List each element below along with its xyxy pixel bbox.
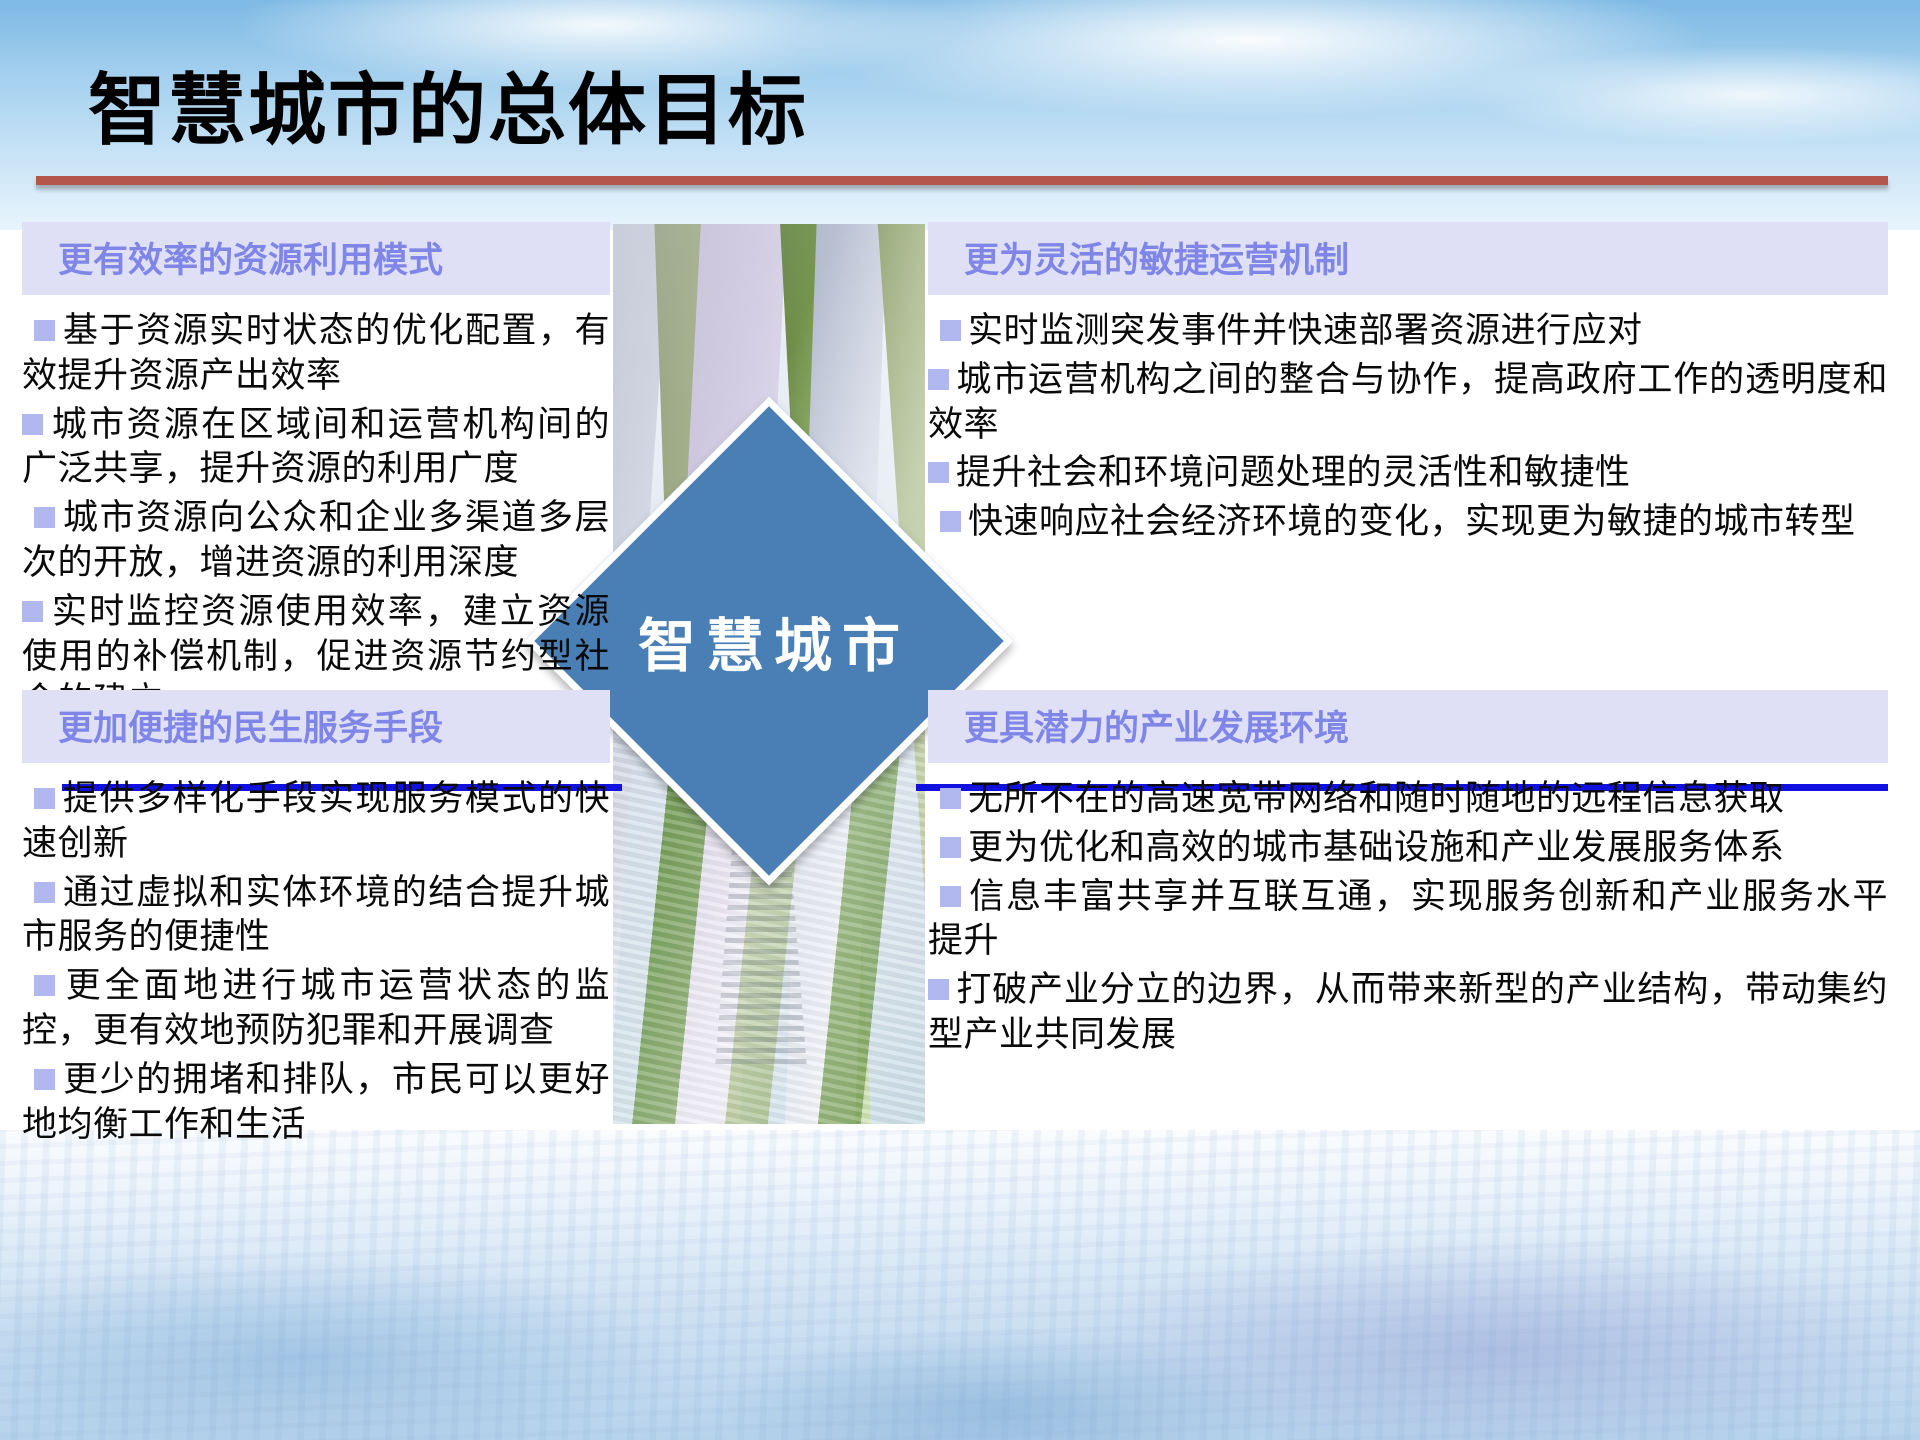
list-item: 打破产业分立的边界，从而带来新型的产业结构，带动集约型产业共同发展 — [928, 968, 1888, 1058]
list-item-text: 实时监测突发事件并快速部署资源进行应对 — [968, 311, 1643, 350]
bullet-square-icon — [928, 369, 949, 390]
bullet-square-icon — [22, 601, 43, 622]
page-title: 智慧城市的总体目标 — [88, 48, 808, 160]
slide-canvas: 智慧城市的总体目标 智慧城市 更有效率的资源利用模式 基于资源实时状态的优化配置… — [0, 0, 1920, 1440]
bullet-square-icon — [34, 320, 55, 341]
center-diamond-badge: 智慧城市 — [596, 468, 942, 814]
list-item-text: 快速响应社会经济环境的变化，实现更为敏捷的城市转型 — [968, 502, 1856, 541]
bullet-square-icon — [34, 788, 55, 809]
list-item: 提升社会和环境问题处理的灵活性和敏捷性 — [928, 451, 1888, 496]
list-item: 城市资源向公众和企业多渠道多层次的开放，增进资源的利用深度 — [22, 496, 610, 586]
list-item-text: 基于资源实时状态的优化配置，有效提升资源产出效率 — [22, 311, 610, 395]
bullet-square-icon — [940, 511, 961, 532]
list-item-text: 更全面地进行城市运营状态的监控，更有效地预防犯罪和开展调查 — [22, 966, 610, 1050]
bullet-list-bottom-right: 无所不在的高速宽带网络和随时随地的远程信息获取 更为优化和高效的城市基础设施和产… — [928, 777, 1888, 1058]
quadrant-header-bottom-left: 更加便捷的民生服务手段 — [22, 690, 610, 763]
list-item: 更少的拥堵和排队，市民可以更好地均衡工作和生活 — [22, 1058, 610, 1148]
list-item: 实时监测突发事件并快速部署资源进行应对 — [928, 309, 1888, 354]
bullet-square-icon — [34, 507, 55, 528]
list-item: 更为优化和高效的城市基础设施和产业发展服务体系 — [928, 826, 1888, 871]
quadrant-bottom-right: 更具潜力的产业发展环境 无所不在的高速宽带网络和随时随地的远程信息获取 更为优化… — [928, 690, 1888, 1062]
list-item-text: 无所不在的高速宽带网络和随时随地的远程信息获取 — [968, 779, 1785, 818]
quadrant-header-top-left: 更有效率的资源利用模式 — [22, 222, 610, 295]
bullet-square-icon — [928, 979, 949, 1000]
list-item: 城市运营机构之间的整合与协作，提高政府工作的透明度和效率 — [928, 358, 1888, 448]
bullet-square-icon — [940, 837, 961, 858]
bullet-square-icon — [940, 788, 961, 809]
list-item-text: 城市资源向公众和企业多渠道多层次的开放，增进资源的利用深度 — [22, 498, 610, 582]
list-item: 更全面地进行城市运营状态的监控，更有效地预防犯罪和开展调查 — [22, 964, 610, 1054]
bullet-list-bottom-left: 提供多样化手段实现服务模式的快速创新 通过虚拟和实体环境的结合提升城市服务的便捷… — [22, 777, 610, 1147]
bullet-square-icon — [34, 882, 55, 903]
list-item-text: 更为优化和高效的城市基础设施和产业发展服务体系 — [968, 828, 1785, 867]
bullet-square-icon — [34, 975, 55, 996]
title-divider — [36, 176, 1888, 185]
bullet-square-icon — [34, 1069, 55, 1090]
quadrant-bottom-left: 更加便捷的民生服务手段 提供多样化手段实现服务模式的快速创新 通过虚拟和实体环境… — [22, 690, 610, 1151]
list-item: 通过虚拟和实体环境的结合提升城市服务的便捷性 — [22, 871, 610, 961]
bullet-square-icon — [940, 886, 961, 907]
bullet-list-top-right: 实时监测突发事件并快速部署资源进行应对 城市运营机构之间的整合与协作，提高政府工… — [928, 309, 1888, 545]
list-item-text: 信息丰富共享并互联互通，实现服务创新和产业服务水平提升 — [928, 877, 1888, 961]
list-item: 信息丰富共享并互联互通，实现服务创新和产业服务水平提升 — [928, 875, 1888, 965]
list-item-text: 城市资源在区域间和运营机构间的广泛共享，提升资源的利用广度 — [22, 405, 610, 489]
list-item-text: 提升社会和环境问题处理的灵活性和敏捷性 — [956, 453, 1631, 492]
list-item: 快速响应社会经济环境的变化，实现更为敏捷的城市转型 — [928, 500, 1888, 545]
list-item: 提供多样化手段实现服务模式的快速创新 — [22, 777, 610, 867]
quadrant-header-bottom-right: 更具潜力的产业发展环境 — [928, 690, 1888, 763]
quadrant-top-left: 更有效率的资源利用模式 基于资源实时状态的优化配置，有效提升资源产出效率 城市资… — [22, 222, 610, 728]
list-item-text: 城市运营机构之间的整合与协作，提高政府工作的透明度和效率 — [928, 360, 1888, 444]
bullet-square-icon — [928, 462, 949, 483]
city-background-image — [0, 1110, 1920, 1440]
list-item-text: 通过虚拟和实体环境的结合提升城市服务的便捷性 — [22, 873, 610, 957]
bullet-square-icon — [940, 320, 961, 341]
list-item: 基于资源实时状态的优化配置，有效提升资源产出效率 — [22, 309, 610, 399]
list-item-text: 提供多样化手段实现服务模式的快速创新 — [22, 779, 610, 863]
list-item: 城市资源在区域间和运营机构间的广泛共享，提升资源的利用广度 — [22, 403, 610, 493]
list-item-text: 打破产业分立的边界，从而带来新型的产业结构，带动集约型产业共同发展 — [928, 970, 1888, 1054]
quadrant-header-top-right: 更为灵活的敏捷运营机制 — [928, 222, 1888, 295]
bullet-square-icon — [22, 414, 43, 435]
list-item: 无所不在的高速宽带网络和随时随地的远程信息获取 — [928, 777, 1888, 822]
list-item-text: 更少的拥堵和排队，市民可以更好地均衡工作和生活 — [22, 1060, 610, 1144]
bullet-list-top-left: 基于资源实时状态的优化配置，有效提升资源产出效率 城市资源在区域间和运营机构间的… — [22, 309, 610, 724]
quadrant-top-right: 更为灵活的敏捷运营机制 实时监测突发事件并快速部署资源进行应对 城市运营机构之间… — [928, 222, 1888, 549]
